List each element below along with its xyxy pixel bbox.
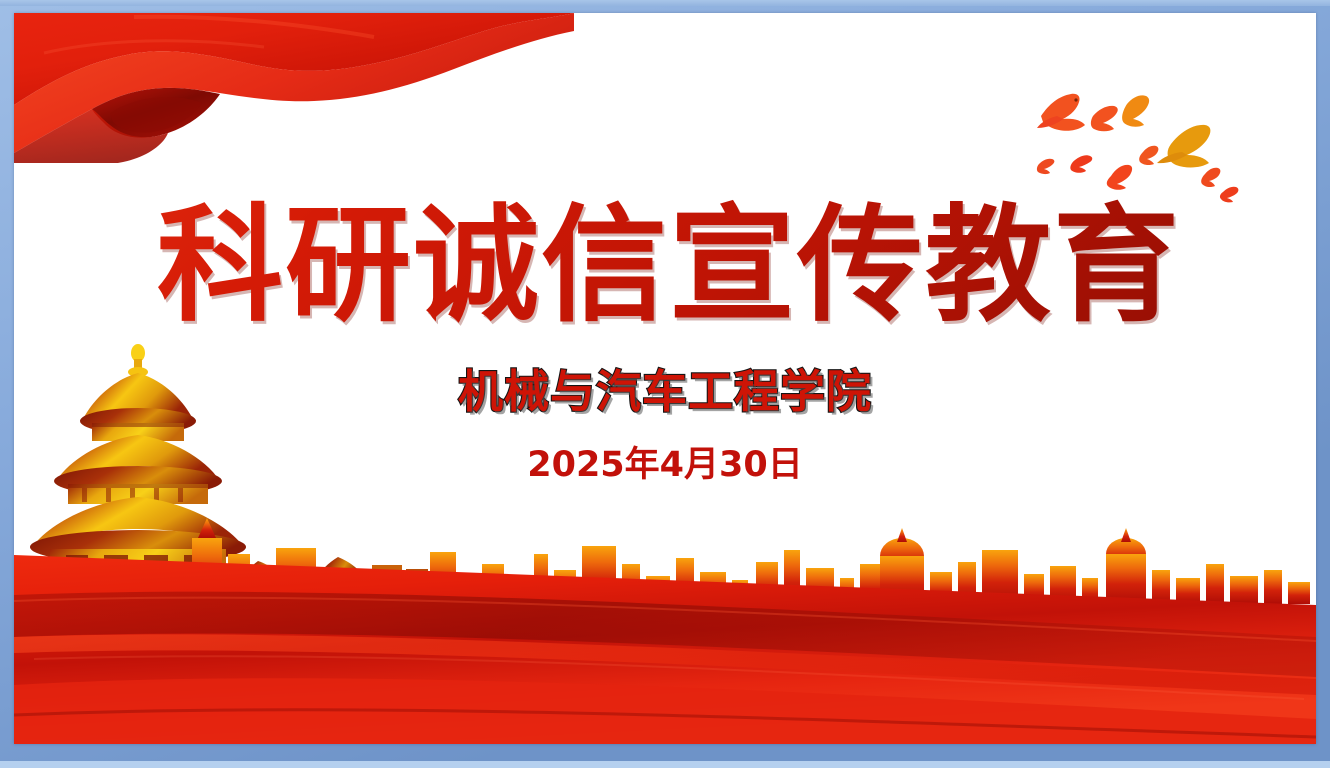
bird-icon bbox=[1037, 159, 1054, 174]
title-block: 科研诚信宣传教育 机械与汽车工程学院 2025年4月30日 bbox=[14, 199, 1316, 487]
bird-icon bbox=[1139, 146, 1158, 165]
event-date: 2025年4月30日 bbox=[14, 436, 1316, 487]
bird-icon bbox=[1107, 165, 1132, 190]
slide-canvas: 科研诚信宣传教育 机械与汽车工程学院 2025年4月30日 bbox=[14, 13, 1316, 744]
organization-subtitle: 机械与汽车工程学院 bbox=[14, 355, 1316, 420]
bird-icon bbox=[1070, 155, 1092, 173]
slide-frame: 科研诚信宣传教育 机械与汽车工程学院 2025年4月30日 bbox=[0, 0, 1330, 768]
bird-icon bbox=[1122, 95, 1149, 126]
bird-icon bbox=[1157, 125, 1210, 168]
bird-icon bbox=[1091, 106, 1118, 131]
page-title: 科研诚信宣传教育 bbox=[14, 199, 1316, 333]
bird-icon bbox=[1037, 94, 1085, 131]
frame-bottom-strip bbox=[0, 761, 1330, 768]
bird-icon bbox=[1201, 168, 1220, 187]
red-silk-wave-decoration bbox=[14, 509, 1316, 744]
city-skyline-decoration bbox=[14, 494, 1316, 604]
flying-birds-decoration bbox=[1019, 68, 1249, 203]
frame-top-strip bbox=[0, 0, 1330, 6]
red-silk-ribbon-decoration bbox=[14, 13, 574, 163]
